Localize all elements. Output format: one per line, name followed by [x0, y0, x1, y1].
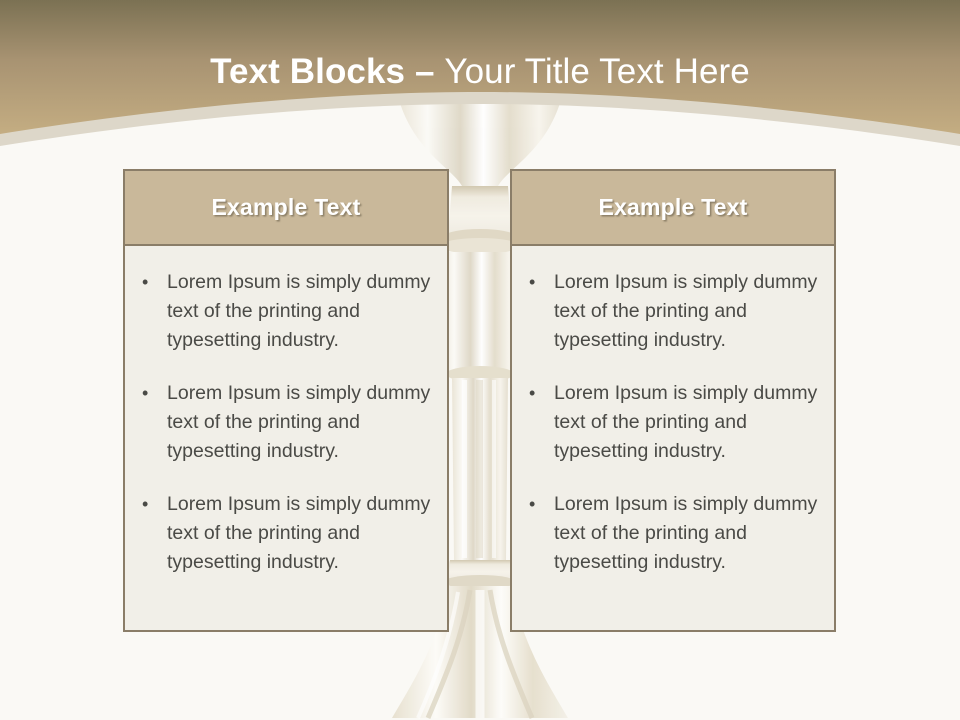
page-title-light: Your Title Text Here	[444, 52, 750, 91]
text-block-left-header-label: Example Text	[212, 194, 361, 221]
list-item-text: Lorem Ipsum is simply dummy text of the …	[554, 379, 820, 466]
list-item: • Lorem Ipsum is simply dummy text of th…	[526, 268, 820, 355]
bullet-icon: •	[139, 268, 167, 297]
list-item-text: Lorem Ipsum is simply dummy text of the …	[554, 490, 820, 577]
text-block-left[interactable]: Example Text • Lorem Ipsum is simply dum…	[123, 169, 449, 632]
page-title: Text Blocks – Your Title Text Here	[0, 50, 960, 94]
list-item: • Lorem Ipsum is simply dummy text of th…	[526, 490, 820, 577]
bullet-icon: •	[526, 379, 554, 408]
text-block-left-header: Example Text	[125, 171, 447, 246]
bullet-icon: •	[526, 268, 554, 297]
list-item-text: Lorem Ipsum is simply dummy text of the …	[554, 268, 820, 355]
slide-canvas: Text Blocks – Your Title Text Here Examp…	[0, 0, 960, 720]
list-item: • Lorem Ipsum is simply dummy text of th…	[139, 490, 433, 577]
text-block-right[interactable]: Example Text • Lorem Ipsum is simply dum…	[510, 169, 836, 632]
list-item: • Lorem Ipsum is simply dummy text of th…	[139, 379, 433, 466]
bullet-icon: •	[139, 379, 167, 408]
list-item-text: Lorem Ipsum is simply dummy text of the …	[167, 490, 433, 577]
list-item: • Lorem Ipsum is simply dummy text of th…	[526, 379, 820, 466]
text-block-right-header-label: Example Text	[599, 194, 748, 221]
page-title-separator: –	[415, 52, 444, 91]
list-item-text: Lorem Ipsum is simply dummy text of the …	[167, 268, 433, 355]
list-item: • Lorem Ipsum is simply dummy text of th…	[139, 268, 433, 355]
page-title-strong: Text Blocks	[210, 52, 415, 91]
text-block-left-body: • Lorem Ipsum is simply dummy text of th…	[125, 246, 447, 577]
bullet-icon: •	[139, 490, 167, 519]
text-block-right-body: • Lorem Ipsum is simply dummy text of th…	[512, 246, 834, 577]
text-block-right-header: Example Text	[512, 171, 834, 246]
bullet-icon: •	[526, 490, 554, 519]
list-item-text: Lorem Ipsum is simply dummy text of the …	[167, 379, 433, 466]
